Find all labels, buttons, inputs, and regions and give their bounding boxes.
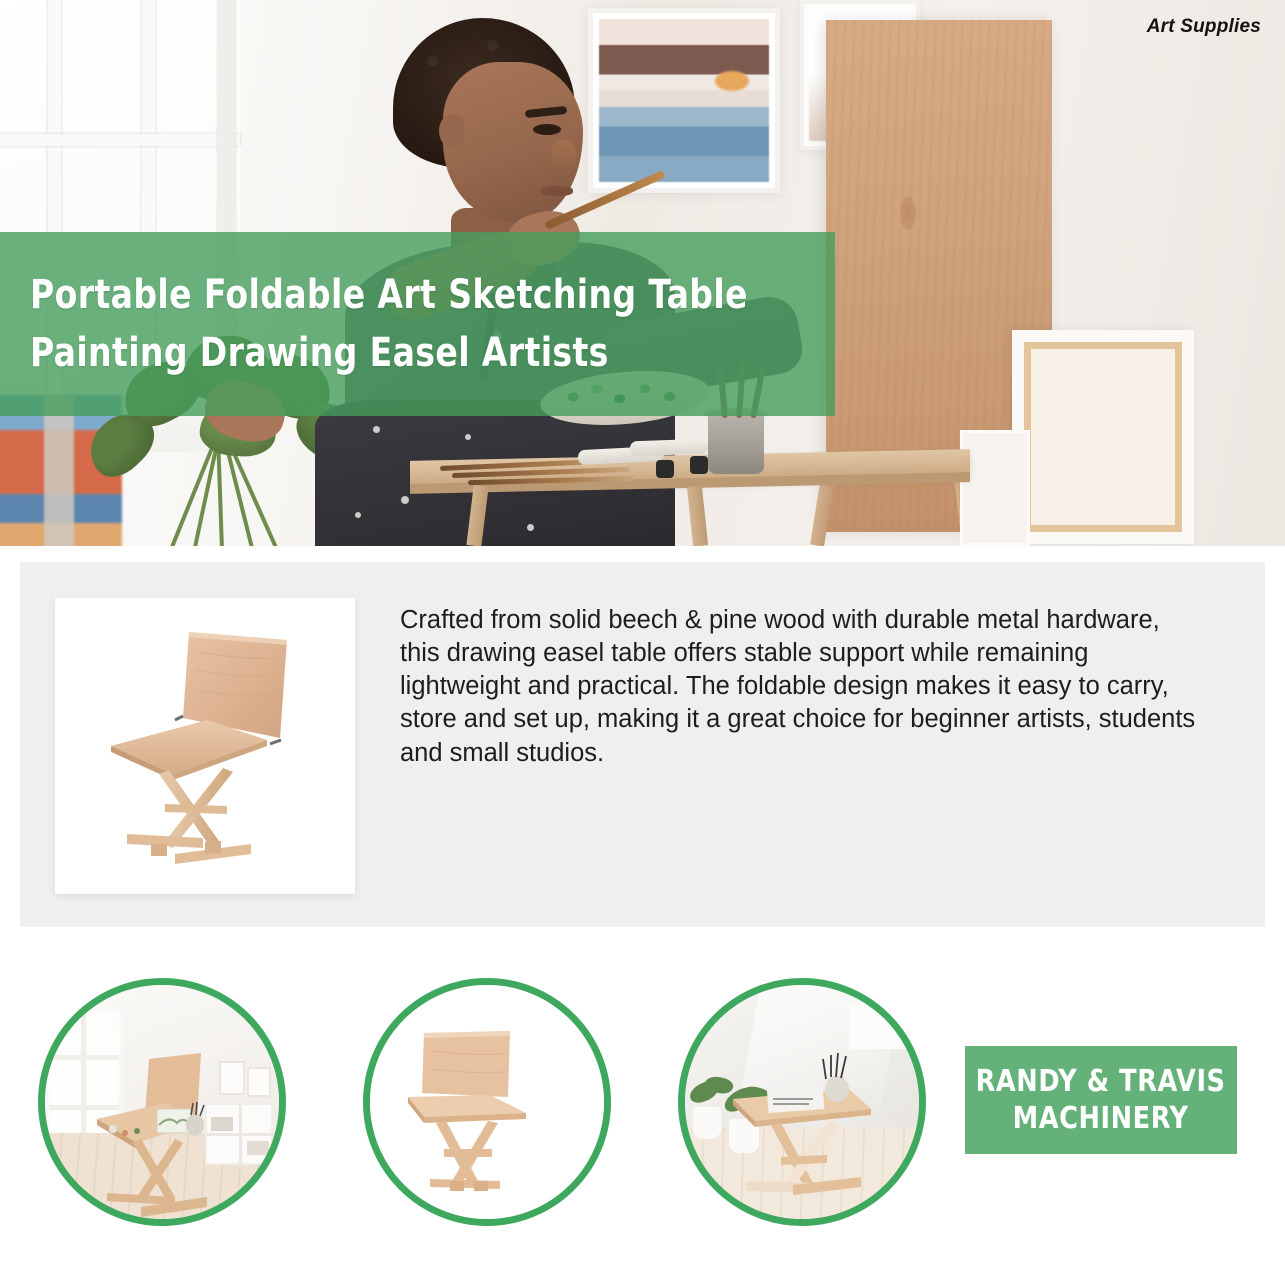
wood-knot — [900, 196, 916, 230]
easel-table-illustration — [45, 985, 286, 1226]
brand-name-line-1: RANDY & TRAVIS — [976, 1064, 1226, 1099]
wall-art-left-strip — [44, 395, 74, 546]
product-description: Crafted from solid beech & pine wood wit… — [400, 604, 1200, 770]
headline-line-2: Painting Drawing Easel Artists — [30, 324, 771, 382]
paint-tube-cap — [690, 456, 708, 474]
info-panel: Crafted from solid beech & pine wood wit… — [20, 562, 1265, 927]
hero-section: Portable Foldable Art Sketching Table Pa… — [0, 0, 1285, 546]
blank-canvas — [1012, 330, 1194, 544]
headline-line-1: Portable Foldable Art Sketching Table — [30, 266, 771, 324]
metal-cup-icon — [708, 412, 764, 474]
brand-name-line-2: MACHINERY — [1013, 1101, 1189, 1136]
thumbnail-flat-table-setup[interactable] — [678, 978, 926, 1226]
paint-tube-icon — [630, 439, 708, 457]
thumbnail-studio-room-view[interactable] — [38, 978, 286, 1226]
easel-table-illustration — [370, 985, 611, 1226]
category-tag: Art Supplies — [1147, 16, 1261, 38]
thumbnail-product-white-background[interactable] — [363, 978, 611, 1226]
brand-badge: RANDY & TRAVIS MACHINERY — [965, 1046, 1237, 1154]
blank-canvas-small — [960, 430, 1030, 546]
foldable-easel-table-illustration — [55, 598, 355, 894]
easel-table-illustration — [685, 985, 926, 1226]
hero-headline-banner: Portable Foldable Art Sketching Table Pa… — [0, 232, 835, 416]
product-image-card — [55, 598, 355, 894]
product-infographic-page: Portable Foldable Art Sketching Table Pa… — [0, 0, 1285, 1285]
paint-tube-cap — [656, 460, 674, 478]
